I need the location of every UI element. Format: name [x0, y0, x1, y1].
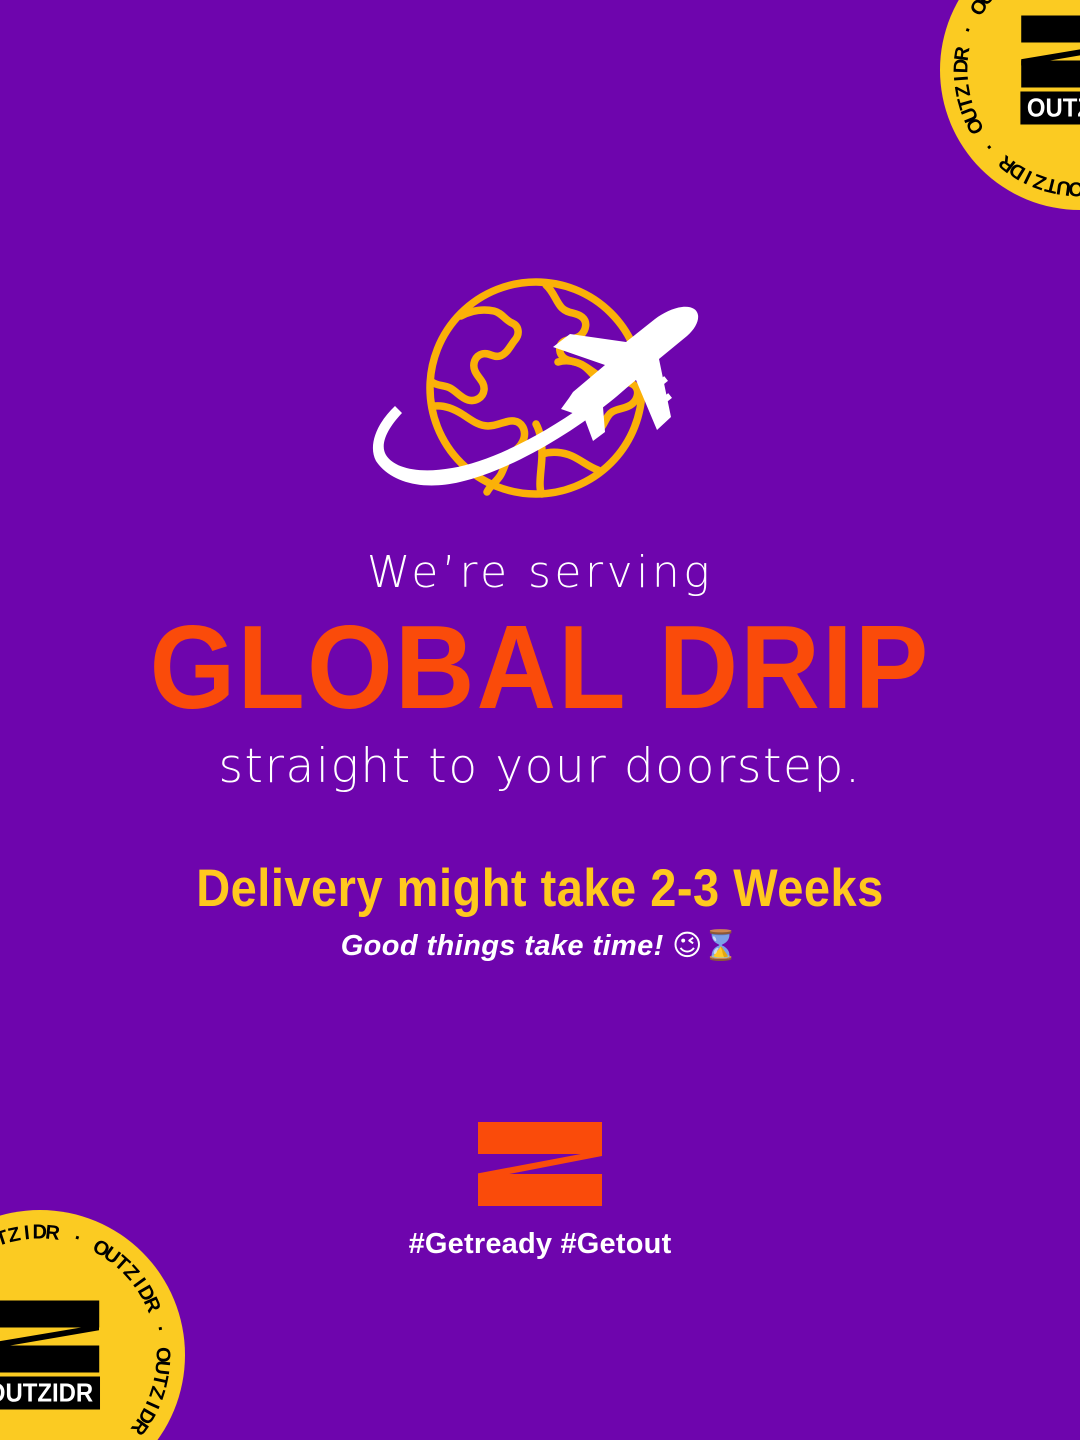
delivery-estimate: Delivery might take 2-3 Weeks — [0, 860, 1080, 915]
brand-badge-top-right: OUTZIDR·OUTZIDR·OUTZIDR·OUTZIDR·OUTZIDR·… — [940, 0, 1080, 210]
tagline-intro: We’re serving — [0, 548, 1080, 597]
tagline-outro: straight to your doorstep. — [0, 741, 1080, 793]
page-title: GLOBAL DRIP — [0, 609, 1080, 728]
main-copy-block: We’re serving GLOBAL DRIP straight to yo… — [0, 548, 1080, 963]
brand-logo-z — [478, 1122, 602, 1206]
globe-airplane-illustration — [360, 278, 712, 510]
badge-z-icon — [1021, 16, 1080, 88]
logo-z-bottom-bar — [478, 1174, 602, 1206]
hourglass-icon: ⌛ — [703, 928, 740, 962]
globe-icon — [360, 278, 712, 510]
delivery-subtext-label: Good things take time! — [341, 930, 664, 962]
badge-z-top-bar — [0, 1301, 99, 1328]
badge-wordmark: OUTZIDR — [1020, 92, 1080, 125]
poster-canvas: We’re serving GLOBAL DRIP straight to yo… — [0, 0, 1080, 1440]
winking-face-icon: 😉 — [672, 928, 703, 962]
badge-z-bottom-bar — [0, 1346, 99, 1373]
badge-center-top-right: OUTZIDR — [1015, 16, 1080, 125]
badge-z-top-bar — [1021, 16, 1080, 43]
badge-z-icon — [0, 1301, 99, 1373]
delivery-subtext: Good things take time! 😉⌛ — [0, 930, 1080, 963]
brand-badge-bottom-left: OUTZIDR·OUTZIDR·OUTZIDR·OUTZIDR·OUTZIDR·… — [0, 1210, 185, 1440]
badge-center-bottom-left: OUTZIDR — [0, 1301, 105, 1410]
logo-z-top-bar — [478, 1122, 602, 1154]
badge-wordmark: OUTZIDR — [0, 1377, 100, 1410]
badge-z-bottom-bar — [1021, 61, 1080, 88]
